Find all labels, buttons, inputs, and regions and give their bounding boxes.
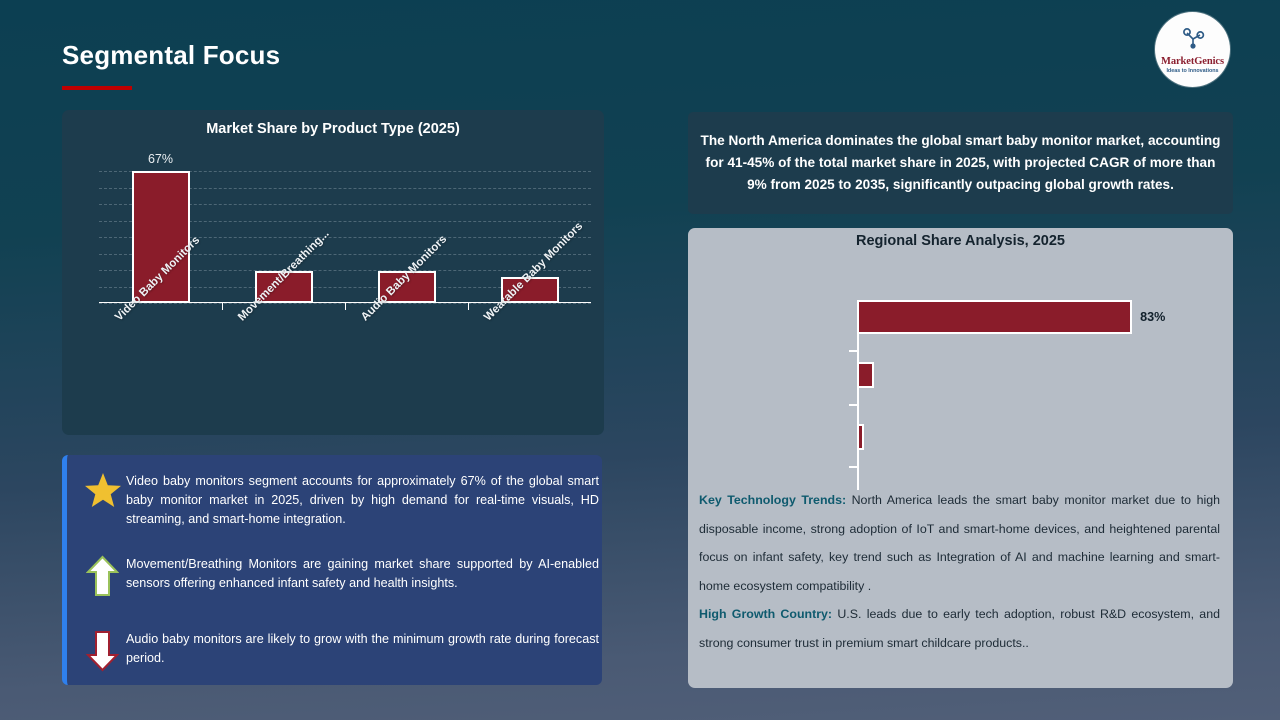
arrow-up-icon	[79, 555, 126, 597]
y-axis-tick	[849, 466, 858, 468]
company-logo: MarketGenics Ideas to Innovations	[1155, 12, 1230, 87]
product-type-chart-panel: Market Share by Product Type (2025) 67% …	[62, 110, 604, 435]
y-axis-tick	[849, 350, 858, 352]
bar-usa	[857, 300, 1132, 334]
body-paragraph-lede: Key Technology Trends:	[699, 493, 846, 507]
bar-value-label: 67%	[148, 152, 173, 166]
x-axis-tick	[468, 302, 469, 310]
bar-value-label: 83%	[1140, 310, 1165, 324]
regional-callout-box: The North America dominates the global s…	[688, 112, 1233, 214]
insight-item-3: Audio baby monitors are likely to grow w…	[79, 630, 599, 672]
star-icon	[79, 472, 126, 509]
insight-text-3: Audio baby monitors are likely to grow w…	[126, 630, 599, 668]
key-insights-box: Video baby monitors segment accounts for…	[62, 455, 602, 685]
body-paragraph-text: North America leads the smart baby monit…	[699, 493, 1220, 593]
body-paragraph-2: High Growth Country: U.S. leads due to e…	[699, 600, 1220, 657]
insight-text-1: Video baby monitors segment accounts for…	[126, 472, 599, 529]
arrow-down-icon	[79, 630, 126, 672]
title-accent-rule	[62, 86, 132, 90]
regional-callout-text: The North America dominates the global s…	[688, 130, 1233, 196]
node-graph-icon	[1180, 27, 1206, 54]
logo-tagline: Ideas to Innovations	[1166, 69, 1218, 74]
insight-text-2: Movement/Breathing Monitors are gaining …	[126, 555, 599, 593]
regional-chart-title: Regional Share Analysis, 2025	[688, 233, 1233, 249]
body-paragraph-1: Key Technology Trends: North America lea…	[699, 486, 1220, 600]
x-axis-tick	[222, 302, 223, 310]
x-axis-tick	[345, 302, 346, 310]
product-chart-title: Market Share by Product Type (2025)	[62, 121, 604, 137]
bar-canada	[857, 362, 874, 388]
logo-brand-name: MarketGenics	[1161, 57, 1224, 68]
insight-item-2: Movement/Breathing Monitors are gaining …	[79, 555, 599, 597]
y-axis-tick	[849, 404, 858, 406]
regional-chart-plot-area: USA83%CanadaMexico	[688, 258, 1233, 463]
regional-body-text: Key Technology Trends: North America lea…	[699, 486, 1220, 657]
body-paragraph-lede: High Growth Country:	[699, 607, 832, 621]
bar-mexico	[857, 424, 864, 450]
page-title: Segmental Focus	[62, 40, 280, 71]
insight-item-1: Video baby monitors segment accounts for…	[79, 472, 599, 529]
regional-share-panel: Regional Share Analysis, 2025 USA83%Cana…	[688, 228, 1233, 688]
